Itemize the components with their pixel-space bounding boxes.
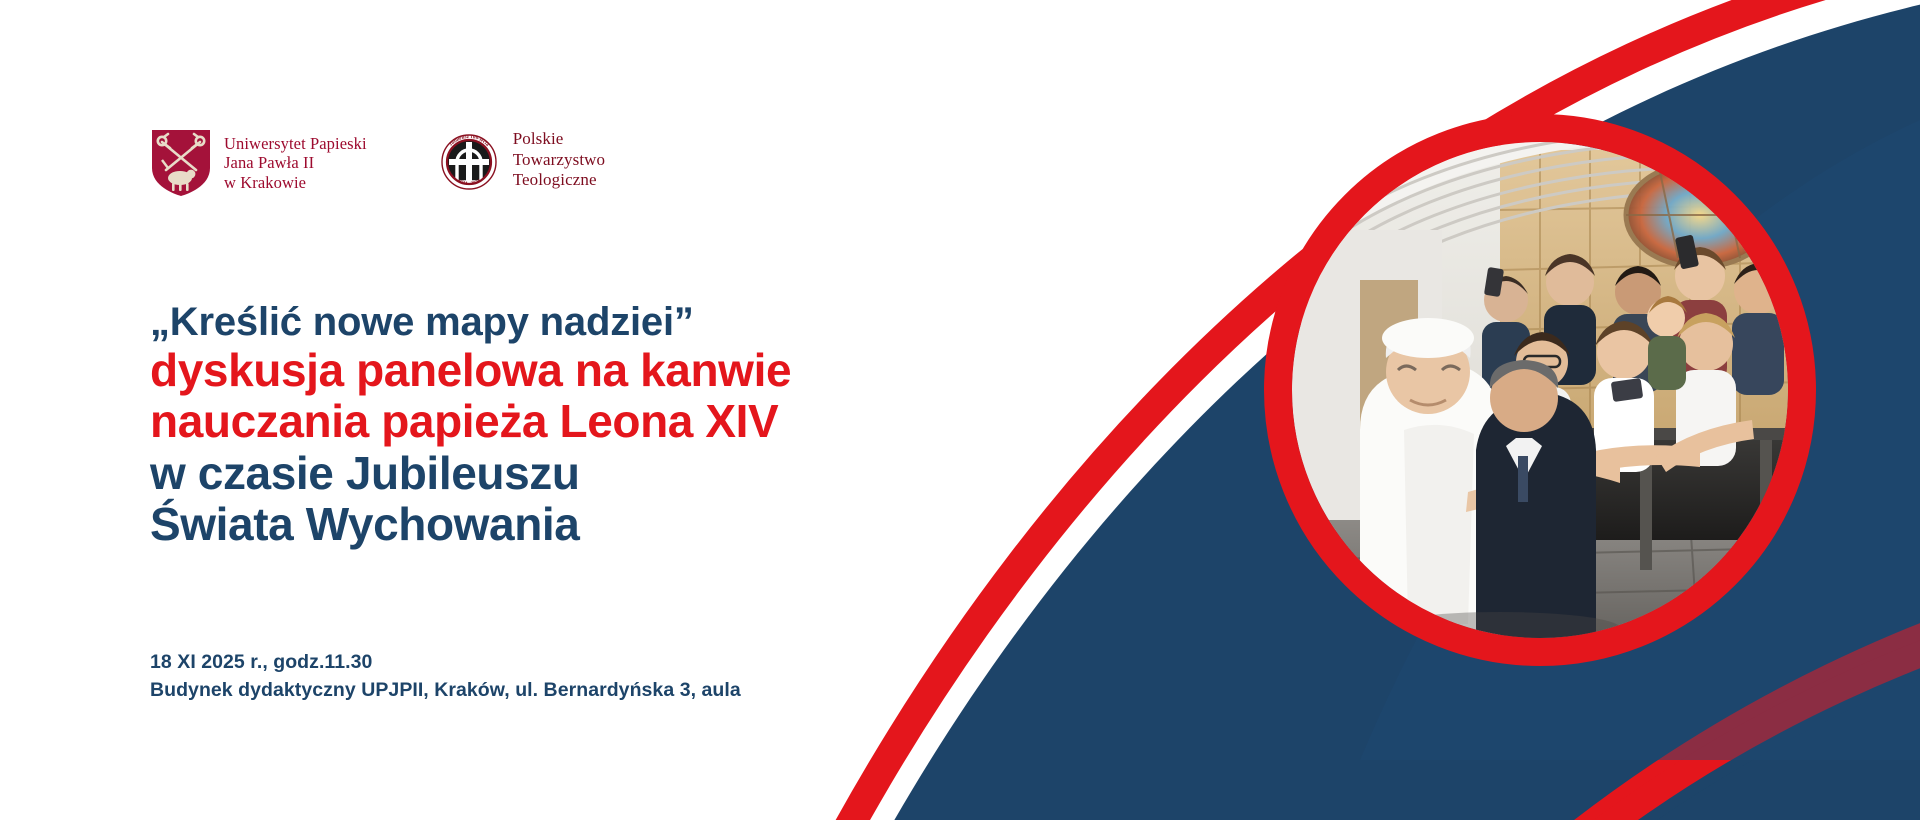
logo-ptt-line-1: Polskie xyxy=(513,129,605,149)
logo-upjpii-line-3: w Krakowie xyxy=(224,173,367,192)
headline-line-5: Świata Wychowania xyxy=(150,499,970,551)
event-venue: Budynek dydaktyczny UPJPII, Kraków, ul. … xyxy=(150,676,741,704)
circular-cross-emblem-icon: Jubileusz 100-lecia 1924 - 2024 xyxy=(437,128,501,192)
logo-upjpii-line-1: Uniwersytet Papieski xyxy=(224,134,367,153)
logo-row: Uniwersytet Papieski Jana Pawła II w Kra… xyxy=(150,128,605,198)
headline-line-3: nauczania papieża Leona XIV xyxy=(150,396,970,448)
poster-canvas: Uniwersytet Papieski Jana Pawła II w Kra… xyxy=(0,0,1920,820)
event-details: 18 XI 2025 r., godz.11.30 Budynek dydakt… xyxy=(150,648,741,705)
logo-ptt: Jubileusz 100-lecia 1924 - 2024 Polskie … xyxy=(437,128,605,192)
logo-upjpii: Uniwersytet Papieski Jana Pawła II w Kra… xyxy=(150,128,367,198)
logo-ptt-line-3: Teologiczne xyxy=(513,170,605,190)
headline-line-1: „Kreślić nowe mapy nadziei” xyxy=(150,300,970,345)
headline-line-2: dyskusja panelowa na kanwie xyxy=(150,345,970,397)
logo-ptt-text: Polskie Towarzystwo Teologiczne xyxy=(513,129,605,190)
logo-upjpii-line-2: Jana Pawła II xyxy=(224,153,367,172)
logo-upjpii-text: Uniwersytet Papieski Jana Pawła II w Kra… xyxy=(224,134,367,192)
event-datetime: 18 XI 2025 r., godz.11.30 xyxy=(150,648,741,676)
headline-block: „Kreślić nowe mapy nadziei” dyskusja pan… xyxy=(150,300,970,551)
headline-line-4: w czasie Jubileuszu xyxy=(150,448,970,500)
shield-crest-keys-lamb-icon xyxy=(150,128,212,198)
logo-ptt-line-2: Towarzystwo xyxy=(513,150,605,170)
